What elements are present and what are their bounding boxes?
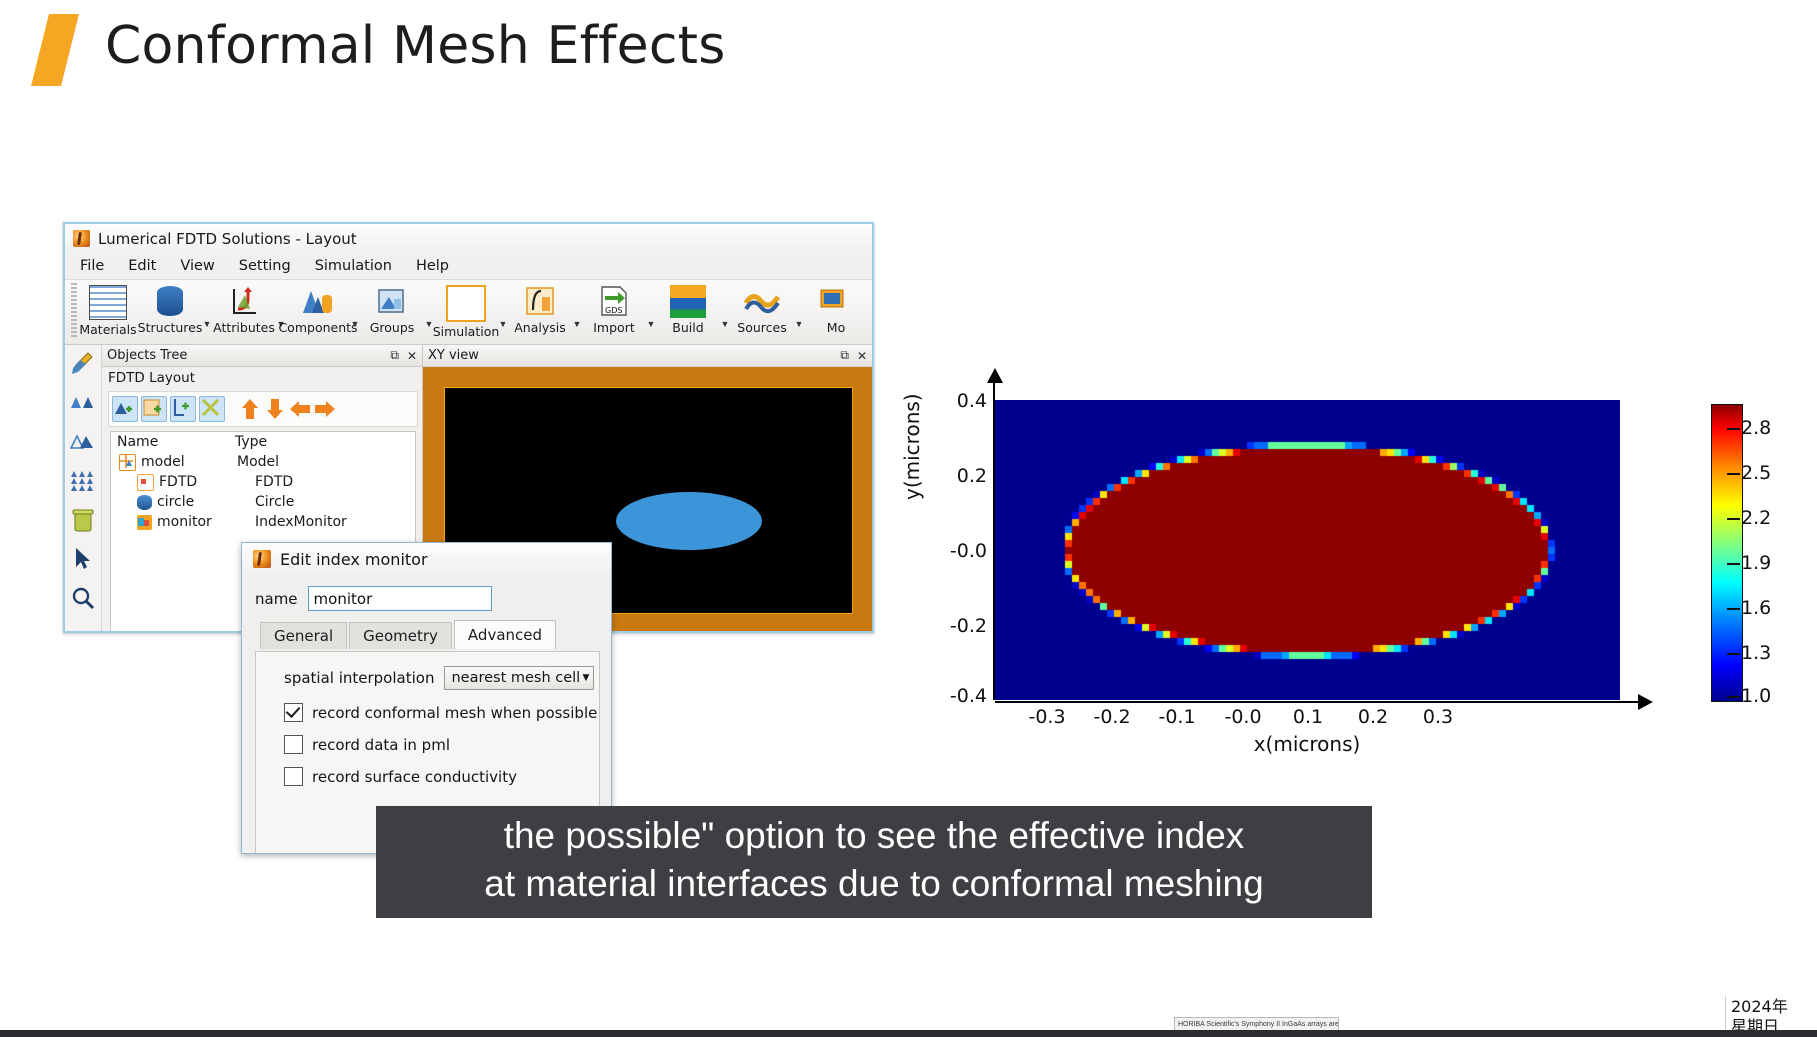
toolbar-button-sources[interactable]: Sources <box>731 280 793 335</box>
page-title: Conformal Mesh Effects <box>105 16 726 76</box>
menu-item-setting[interactable]: Setting <box>239 258 291 274</box>
move-down-arrow-icon[interactable] <box>264 397 286 421</box>
table-row[interactable]: monitor IndexMonitor <box>111 512 415 532</box>
attributes-icon <box>226 285 262 318</box>
tab-general[interactable]: General <box>260 622 347 649</box>
toolbar-label: Analysis <box>514 320 566 335</box>
dialog-title-bar: Edit index monitor <box>242 543 611 575</box>
circle-structure-shape <box>616 492 763 551</box>
y-axis-arrow-icon <box>987 368 1003 383</box>
import-dropdown-caret-icon[interactable]: ▼ <box>645 319 657 329</box>
toolbar-button-components[interactable]: Components <box>287 280 349 335</box>
toolbar-label: Materials <box>79 322 136 337</box>
name-input[interactable] <box>308 586 492 611</box>
checkbox-row-surface-conductivity[interactable]: record surface conductivity <box>256 767 599 786</box>
import-gds-icon: GDS <box>596 285 632 318</box>
spatial-interpolation-row: spatial interpolation nearest mesh cell … <box>256 666 599 690</box>
groups-icon <box>374 285 410 318</box>
x-tick-label: 0.1 <box>1293 706 1323 728</box>
title-accent-bar <box>31 14 79 86</box>
row-type: Model <box>237 454 279 470</box>
build-dropdown-caret-icon[interactable]: ▼ <box>719 319 731 329</box>
menu-item-help[interactable]: Help <box>416 258 449 274</box>
structures-dropdown-caret-icon[interactable]: ▼ <box>201 319 213 329</box>
objects-tree-toolbar <box>108 391 418 427</box>
circle-icon <box>137 495 152 510</box>
components-dropdown-caret-icon[interactable]: ▼ <box>349 319 361 329</box>
menu-item-simulation[interactable]: Simulation <box>315 258 392 274</box>
dialog-tabs: General Geometry Advanced <box>242 622 611 651</box>
toolbar-button-materials[interactable]: Materials <box>77 280 139 337</box>
sources-icon <box>744 285 780 318</box>
build-icon <box>670 285 706 318</box>
add-mesh-icon[interactable] <box>170 396 196 422</box>
subtitle-line-1: the possible" option to see the effectiv… <box>386 812 1362 860</box>
toolbar-button-analysis[interactable]: Analysis <box>509 280 571 335</box>
clock-date: 2024年 <box>1731 997 1817 1017</box>
delete-trash-icon[interactable] <box>70 507 96 533</box>
menu-item-view[interactable]: View <box>180 258 214 274</box>
chevron-down-icon: ▼ <box>583 673 590 683</box>
window-title: Lumerical FDTD Solutions - Layout <box>98 230 357 248</box>
move-right-arrow-icon[interactable] <box>314 397 336 421</box>
toolbar-label: Attributes <box>213 320 275 335</box>
close-icon[interactable]: ✕ <box>407 349 417 363</box>
simulation-icon <box>446 285 486 322</box>
x-tick-label: -0.2 <box>1093 706 1130 728</box>
components-icon <box>300 285 336 318</box>
monitor-icon <box>137 515 152 530</box>
close-icon[interactable]: ✕ <box>857 349 867 363</box>
toolbar-label: Build <box>672 320 703 335</box>
select-object-icon[interactable] <box>70 429 96 455</box>
x-tick-label: -0.3 <box>1028 706 1065 728</box>
row-type: Circle <box>255 494 294 510</box>
x-axis-arrow-icon <box>1638 694 1653 710</box>
fdtd-icon <box>137 474 154 491</box>
objects-tree-title: Objects Tree <box>107 348 382 363</box>
y-tick-label: -0.0 <box>950 540 987 562</box>
index-monitor-plot: y(microns) 0.4 0.2 -0.0 -0.2 -0.4 -0.3 -… <box>905 360 1805 760</box>
xy-view-header: XY view ⧉ ✕ <box>423 345 872 367</box>
colorbar <box>1711 404 1743 702</box>
move-left-arrow-icon[interactable] <box>289 397 311 421</box>
x-tick-label: -0.1 <box>1158 706 1195 728</box>
checkbox-row-conformal-mesh[interactable]: record conformal mesh when possible <box>256 703 599 722</box>
toolbar-button-import[interactable]: GDS Import <box>583 280 645 335</box>
undock-icon[interactable]: ⧉ <box>390 348 399 363</box>
name-label: name <box>255 590 298 608</box>
window-title-bar: Lumerical FDTD Solutions - Layout <box>65 224 872 253</box>
objects-tree-header: Objects Tree ⧉ ✕ <box>102 345 422 367</box>
menu-bar: File Edit View Setting Simulation Help <box>65 253 872 279</box>
x-axis-line <box>995 701 1640 703</box>
row-name: model <box>141 454 185 470</box>
colorbar-tick-label: 2.5 <box>1741 462 1771 484</box>
x-tick-label: -0.0 <box>1224 706 1261 728</box>
record-data-in-pml-checkbox[interactable] <box>284 735 303 754</box>
toolbar-label: Structures <box>138 320 203 335</box>
toolbar-label: Simulation <box>433 324 500 339</box>
toolbar-button-groups[interactable]: Groups <box>361 280 423 335</box>
row-name: monitor <box>157 514 212 530</box>
toolbar-button-attributes[interactable]: Attributes <box>213 280 275 335</box>
time-overlay-text: time to <box>1470 1000 1548 1031</box>
tree-header-row: Name Type <box>111 432 415 452</box>
record-conformal-mesh-checkbox[interactable] <box>284 703 303 722</box>
column-header-type: Type <box>235 434 267 450</box>
simulation-dropdown-caret-icon[interactable]: ▼ <box>497 319 509 329</box>
menu-item-file[interactable]: File <box>80 258 104 274</box>
y-tick-label: 0.4 <box>957 390 987 412</box>
toolbar-label: Sources <box>737 320 786 335</box>
checkbox-row-record-pml[interactable]: record data in pml <box>256 735 599 754</box>
toolbar-button-structures[interactable]: Structures <box>139 280 201 335</box>
tab-geometry[interactable]: Geometry <box>349 622 452 649</box>
record-surface-conductivity-checkbox[interactable] <box>284 767 303 786</box>
table-row[interactable]: circle Circle <box>111 492 415 512</box>
zoom-magnifier-icon[interactable] <box>70 585 96 611</box>
pointer-arrow-icon[interactable] <box>70 546 96 572</box>
sources-dropdown-caret-icon[interactable]: ▼ <box>793 319 805 329</box>
x-tick-label: 0.3 <box>1423 706 1453 728</box>
colorbar-tick-label: 1.3 <box>1741 642 1771 664</box>
toolbar-label: Mo <box>827 320 845 335</box>
menu-item-edit[interactable]: Edit <box>128 258 156 274</box>
x-axis-label: x(microns) <box>1254 732 1361 756</box>
left-tool-rail <box>65 345 102 633</box>
move-up-arrow-icon[interactable] <box>239 397 261 421</box>
y-tick-label: 0.2 <box>957 465 987 487</box>
y-tick-label: -0.4 <box>950 685 987 707</box>
select-value: nearest mesh cell <box>451 670 580 686</box>
fdtd-layout-label: FDTD Layout <box>102 367 422 389</box>
colorbar-tick-label: 1.0 <box>1741 685 1771 707</box>
analysis-icon <box>522 285 558 318</box>
dialog-title: Edit index monitor <box>280 550 428 569</box>
edit-pencil-icon[interactable] <box>70 351 96 377</box>
colorbar-tick-label: 2.2 <box>1741 507 1771 529</box>
toolbar-label: Components <box>278 320 357 335</box>
row-type: FDTD <box>255 474 293 490</box>
row-name: circle <box>157 494 194 510</box>
spatial-interpolation-label: spatial interpolation <box>284 669 434 687</box>
colorbar-tick-label: 1.6 <box>1741 597 1771 619</box>
checkbox-label: record data in pml <box>312 736 450 754</box>
y-axis-label: y(microns) <box>900 393 924 500</box>
monitors-icon <box>818 285 854 318</box>
analysis-dropdown-caret-icon[interactable]: ▼ <box>571 319 583 329</box>
row-type: IndexMonitor <box>255 514 347 530</box>
add-group-icon[interactable] <box>141 396 167 422</box>
taskbar <box>0 1030 1817 1037</box>
colorbar-tick-label: 2.8 <box>1741 417 1771 439</box>
row-name: FDTD <box>159 474 197 490</box>
video-subtitle: the possible" option to see the effectiv… <box>376 806 1372 918</box>
checkbox-label: record surface conductivity <box>312 768 517 786</box>
toolbar-label: Groups <box>370 320 415 335</box>
table-row[interactable]: FDTD FDTD <box>111 472 415 492</box>
multi-objects-icon[interactable] <box>70 468 96 494</box>
spatial-interpolation-select[interactable]: nearest mesh cell ▼ <box>444 666 594 690</box>
materials-icon <box>89 285 127 320</box>
lumerical-logo-icon <box>73 230 90 247</box>
toolbar-button-build[interactable]: Build <box>657 280 719 335</box>
y-tick-label: -0.2 <box>950 615 987 637</box>
two-objects-icon[interactable] <box>70 390 96 416</box>
toolbar-button-monitors[interactable]: Mo <box>805 280 867 335</box>
toolbar-button-simulation[interactable]: Simulation <box>435 280 497 339</box>
xy-view-title: XY view <box>428 348 832 363</box>
checkbox-label: record conformal mesh when possible <box>312 704 597 722</box>
column-header-name: Name <box>117 434 235 450</box>
svg-text:GDS: GDS <box>605 306 622 315</box>
tab-advanced[interactable]: Advanced <box>454 620 556 649</box>
add-structure-icon[interactable] <box>112 396 138 422</box>
structures-icon <box>152 285 188 318</box>
model-icon <box>119 454 136 471</box>
x-tick-label: 0.2 <box>1358 706 1388 728</box>
table-row[interactable]: model Model <box>111 452 415 472</box>
name-field-row: name <box>242 575 611 620</box>
lumerical-logo-icon <box>253 550 271 568</box>
colorbar-tick-label: 1.9 <box>1741 552 1771 574</box>
toolbar-label: Import <box>593 320 635 335</box>
subtitle-line-2: at material interfaces due to conformal … <box>386 860 1362 908</box>
main-toolbar: Materials Structures ▼ Attributes ▼ <box>65 279 872 345</box>
heatmap-canvas <box>995 400 1620 700</box>
add-source-icon[interactable] <box>199 396 225 422</box>
undock-icon[interactable]: ⧉ <box>840 348 849 363</box>
